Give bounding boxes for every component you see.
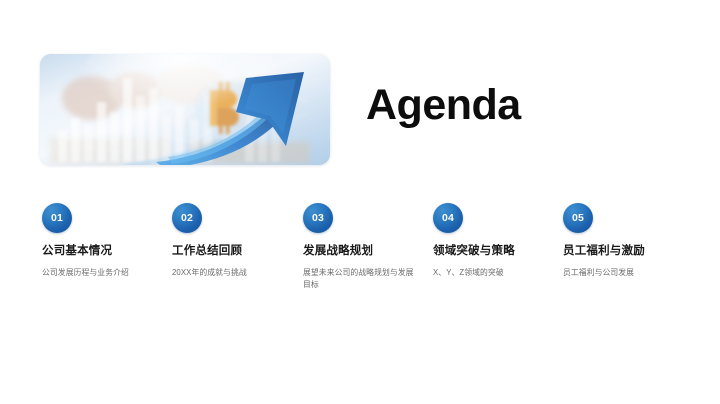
- hero-image-graphic: [40, 54, 330, 165]
- agenda-item-04[interactable]: 04 领域突破与策略 X、Y、Z领域的突破: [433, 203, 555, 279]
- step-badge-02: 02: [172, 203, 202, 233]
- step-badge-05: 05: [563, 203, 593, 233]
- step-badge-03: 03: [303, 203, 333, 233]
- step-number: 04: [442, 213, 454, 224]
- agenda-item-03[interactable]: 03 发展战略规划 展望未来公司的战略规划与发展目标: [303, 203, 425, 292]
- item-heading: 领域突破与策略: [433, 244, 555, 258]
- item-description: 员工福利与公司发展: [563, 267, 679, 279]
- item-description: 20XX年的成就与挑战: [172, 267, 288, 279]
- step-number: 03: [312, 213, 324, 224]
- agenda-slide: Agenda 01 公司基本情况 公司发展历程与业务介绍 02 工作总结回顾 2…: [0, 0, 720, 404]
- page-title: Agenda: [366, 84, 521, 127]
- item-description: X、Y、Z领域的突破: [433, 267, 549, 279]
- agenda-item-02[interactable]: 02 工作总结回顾 20XX年的成就与挑战: [172, 203, 294, 279]
- step-number: 05: [572, 213, 584, 224]
- agenda-item-01[interactable]: 01 公司基本情况 公司发展历程与业务介绍: [42, 203, 164, 279]
- agenda-items-list: 01 公司基本情况 公司发展历程与业务介绍 02 工作总结回顾 20XX年的成就…: [0, 203, 720, 313]
- item-heading: 公司基本情况: [42, 244, 164, 258]
- hero-image: [40, 54, 330, 165]
- step-number: 02: [181, 213, 193, 224]
- step-number: 01: [51, 213, 63, 224]
- item-heading: 工作总结回顾: [172, 244, 294, 258]
- agenda-item-05[interactable]: 05 员工福利与激励 员工福利与公司发展: [563, 203, 685, 279]
- step-badge-01: 01: [42, 203, 72, 233]
- item-heading: 员工福利与激励: [563, 244, 685, 258]
- item-description: 公司发展历程与业务介绍: [42, 267, 158, 279]
- item-description: 展望未来公司的战略规划与发展目标: [303, 267, 419, 291]
- step-badge-04: 04: [433, 203, 463, 233]
- item-heading: 发展战略规划: [303, 244, 425, 258]
